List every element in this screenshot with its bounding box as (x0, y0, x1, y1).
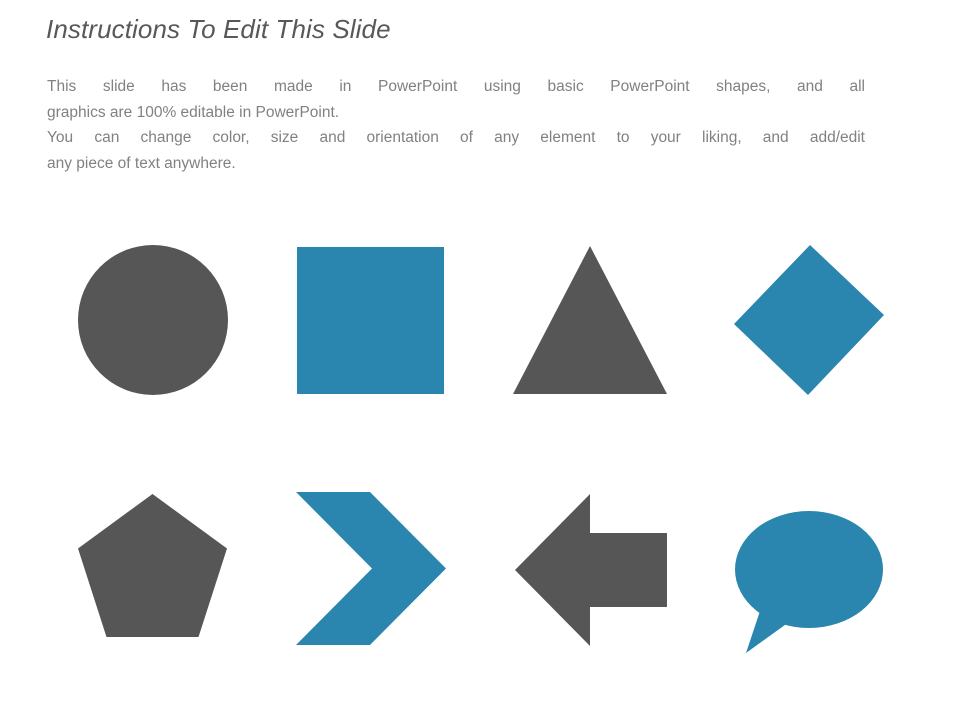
square-path (297, 247, 444, 394)
shape-chevron-arrow[interactable] (296, 492, 446, 645)
pentagon-icon (78, 494, 227, 637)
triangle-path (513, 246, 667, 394)
shape-diamond[interactable] (734, 245, 884, 395)
chevron-path (296, 492, 446, 645)
chevron-right-icon (296, 492, 446, 645)
shape-triangle[interactable] (513, 246, 667, 394)
circle-icon (78, 245, 228, 395)
diamond-path (734, 245, 884, 395)
triangle-icon (513, 246, 667, 394)
shape-left-arrow[interactable] (515, 494, 667, 646)
speech-bubble-icon (734, 511, 886, 656)
arrow-left-icon (515, 494, 667, 646)
shape-speech-bubble[interactable] (734, 511, 886, 656)
arrow-left-path (515, 494, 667, 646)
shape-gallery (0, 0, 960, 720)
diamond-icon (734, 245, 884, 395)
shape-circle[interactable] (78, 245, 228, 395)
shape-pentagon[interactable] (78, 494, 227, 637)
shape-square[interactable] (297, 247, 444, 394)
pentagon-path (78, 494, 227, 637)
circle-path (78, 245, 228, 395)
slide-canvas: Instructions To Edit This Slide This sli… (0, 0, 960, 720)
square-icon (297, 247, 444, 394)
speech-bubble-body (735, 511, 883, 628)
